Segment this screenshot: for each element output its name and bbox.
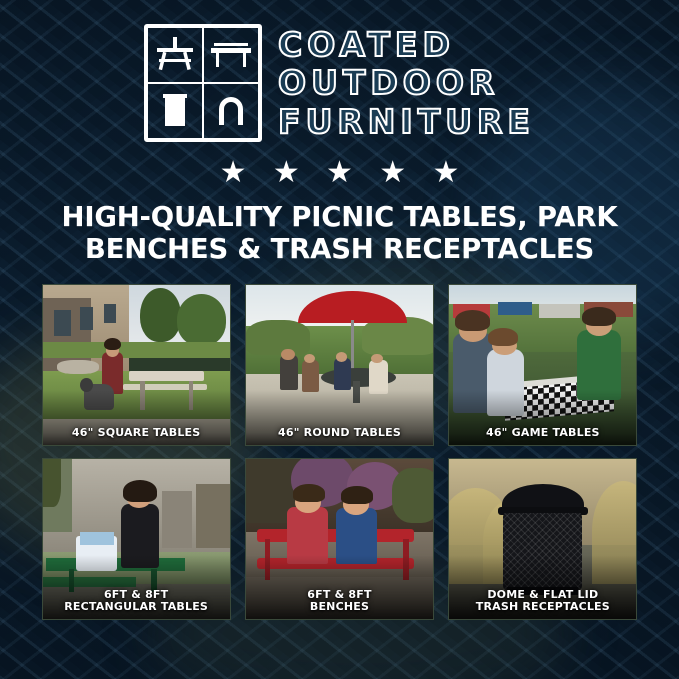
product-caption: DOME & FLAT LID TRASH RECEPTACLES: [449, 585, 636, 619]
product-caption: 46" SQUARE TABLES: [43, 423, 230, 445]
product-caption: 6FT & 8FT RECTANGULAR TABLES: [43, 585, 230, 619]
logo-word-line-2: OUTDOOR: [278, 65, 535, 101]
photo-round-tables: [246, 285, 433, 445]
trash-receptacle-icon: [147, 83, 203, 139]
picnic-table-icon: [147, 27, 203, 83]
bench-icon: [203, 27, 259, 83]
product-caption: 46" GAME TABLES: [449, 423, 636, 445]
product-caption: 6FT & 8FT BENCHES: [246, 585, 433, 619]
product-grid: 46" SQUARE TABLES: [42, 284, 638, 620]
star-rating: ★ ★ ★ ★ ★: [0, 158, 679, 188]
logo-mark-grid: [144, 24, 262, 142]
product-caption: 46" ROUND TABLES: [246, 423, 433, 445]
product-caption-line-2: BENCHES: [248, 601, 431, 614]
product-card-square-tables[interactable]: 46" SQUARE TABLES: [42, 284, 231, 446]
headline-line-2: BENCHES & TRASH RECEPTACLES: [26, 234, 653, 266]
product-caption-line-2: TRASH RECEPTACLES: [451, 601, 634, 614]
headline-line-1: HIGH-QUALITY PICNIC TABLES, PARK: [26, 202, 653, 234]
photo-game-tables: [449, 285, 636, 445]
logo-wordmark: COATED OUTDOOR FURNITURE: [278, 27, 535, 140]
product-card-round-tables[interactable]: 46" ROUND TABLES: [245, 284, 434, 446]
product-card-game-tables[interactable]: 46" GAME TABLES: [448, 284, 637, 446]
product-poster: COATED OUTDOOR FURNITURE ★ ★ ★ ★ ★ HIGH-…: [0, 0, 679, 679]
logo-word-line-3: FURNITURE: [278, 104, 535, 140]
product-card-rectangular-tables[interactable]: 6FT & 8FT RECTANGULAR TABLES: [42, 458, 231, 620]
product-card-trash-receptacles[interactable]: DOME & FLAT LID TRASH RECEPTACLES: [448, 458, 637, 620]
photo-square-tables: [43, 285, 230, 445]
brand-logo: COATED OUTDOOR FURNITURE: [0, 0, 679, 142]
logo-word-line-1: COATED: [278, 27, 535, 63]
arch-bench-icon: [203, 83, 259, 139]
headline: HIGH-QUALITY PICNIC TABLES, PARK BENCHES…: [0, 202, 679, 266]
product-card-benches[interactable]: 6FT & 8FT BENCHES: [245, 458, 434, 620]
product-caption-line-2: RECTANGULAR TABLES: [45, 601, 228, 614]
